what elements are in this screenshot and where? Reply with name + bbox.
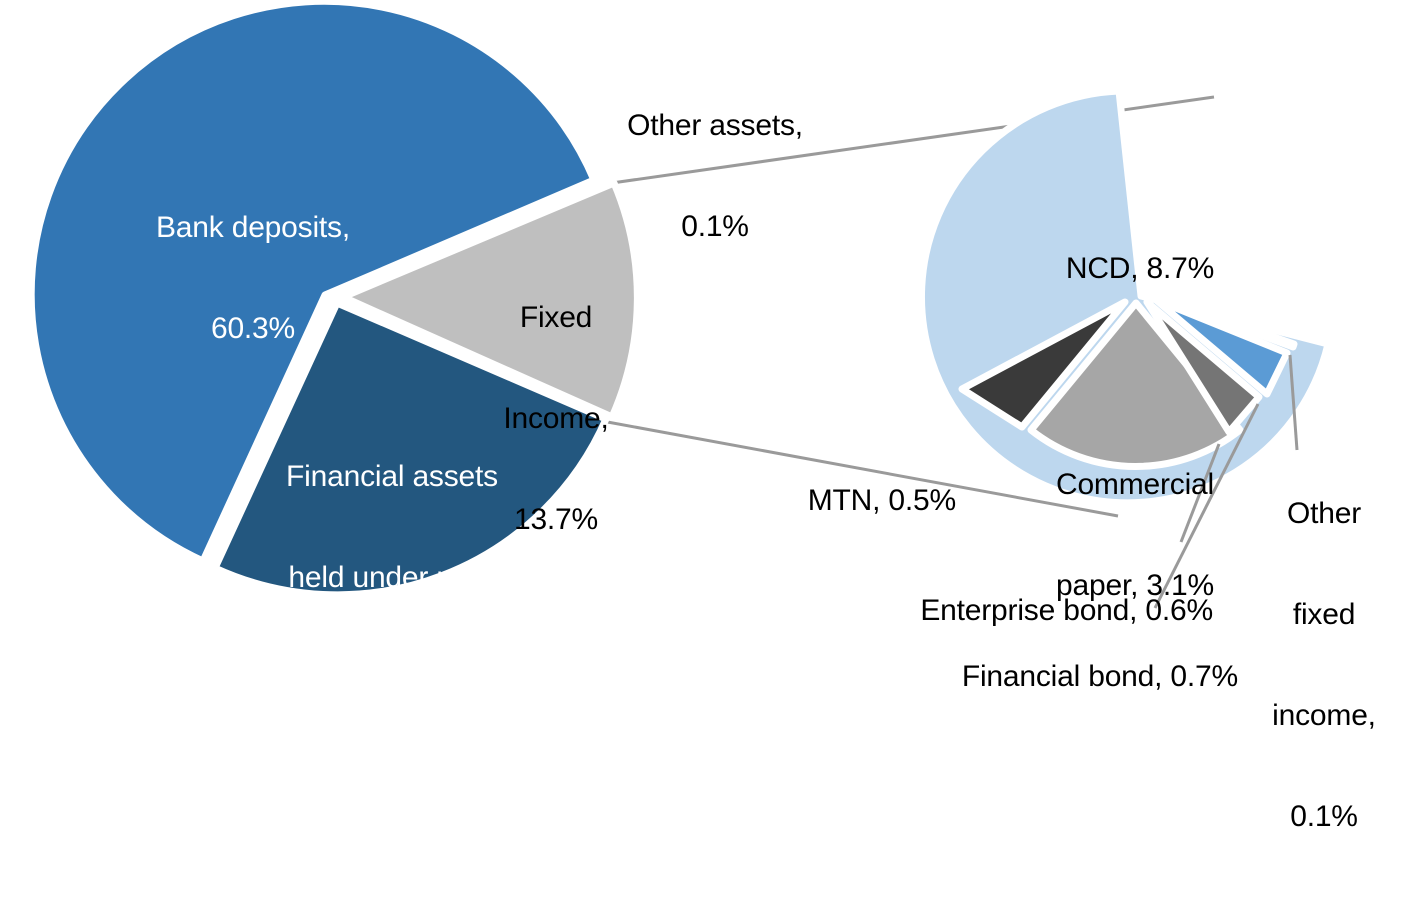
label-mtn-text: MTN, 0.5% [716, 484, 956, 518]
label-other-fixed-line2: fixed [1253, 598, 1395, 632]
label-repo-line3: agreements, [252, 662, 532, 696]
label-bank-deposits: Bank deposits, 60.3% [128, 144, 378, 413]
label-repo-line4: 25.9% [252, 763, 532, 797]
label-other-assets-line1: Other assets, [600, 109, 830, 143]
label-ncd: NCD, 8.7% [1040, 185, 1240, 353]
label-other-fixed-line4: 0.1% [1253, 800, 1395, 834]
label-other-assets: Other assets, 0.1% [600, 42, 830, 311]
label-other-assets-line2: 0.1% [600, 210, 830, 244]
label-other-fixed-income: Other fixed income, 0.1% [1253, 430, 1395, 900]
label-other-fixed-line3: income, [1253, 699, 1395, 733]
label-financial-bond: Financial bond, 0.7% [838, 593, 1238, 761]
label-other-fixed-line1: Other [1253, 497, 1395, 531]
label-financial-bond-text: Financial bond, 0.7% [838, 660, 1238, 694]
label-fixed-income-line3: 13.7% [471, 503, 641, 537]
label-commercial-paper-line1: Commercial [1030, 468, 1240, 502]
label-bank-deposits-line1: Bank deposits, [128, 211, 378, 245]
pie-of-pie-chart: Bank deposits, 60.3% Financial assets he… [0, 0, 1404, 644]
label-bank-deposits-line2: 60.3% [128, 312, 378, 346]
label-ncd-text: NCD, 8.7% [1040, 252, 1240, 286]
label-fixed-income-line2: Income, [471, 402, 641, 436]
